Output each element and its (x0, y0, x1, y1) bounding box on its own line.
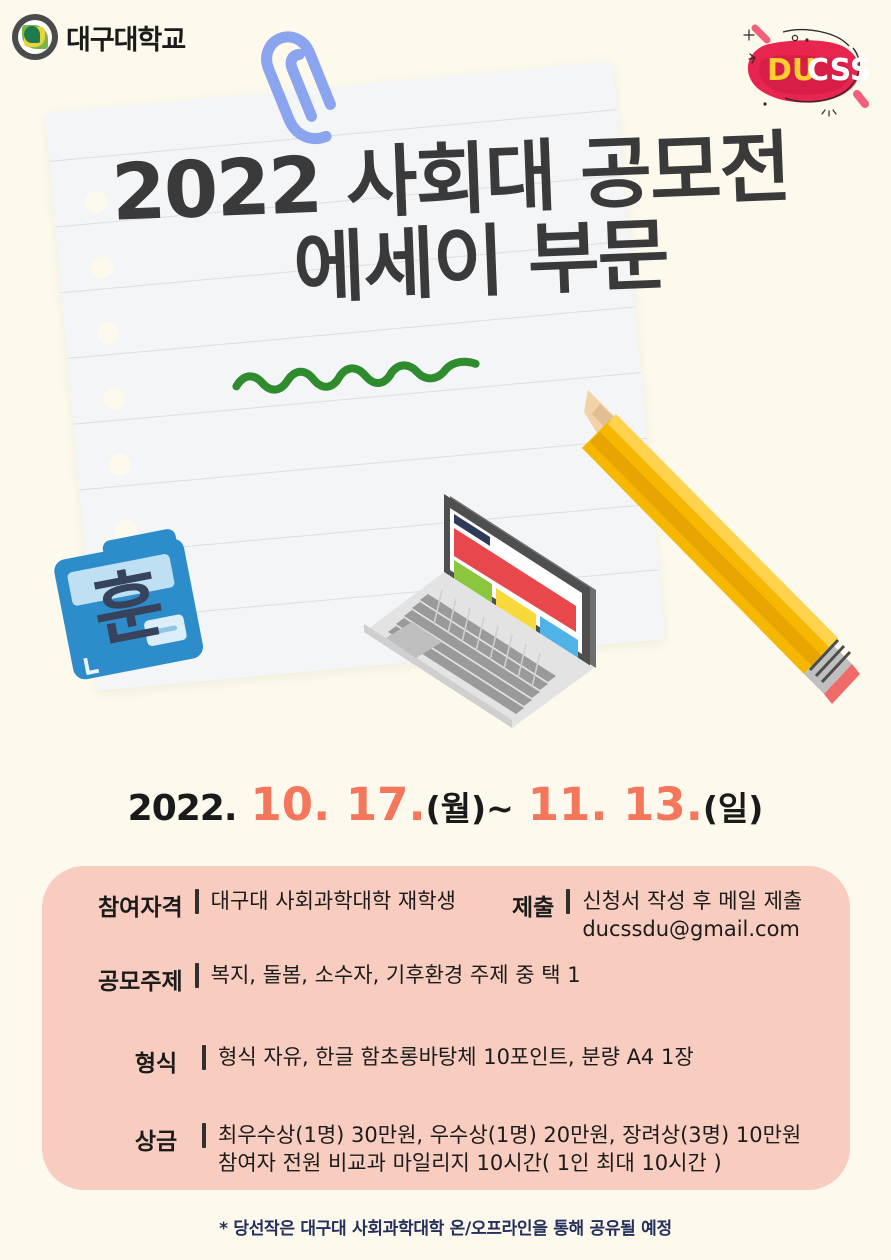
label-qualification: 참여자격 (98, 888, 183, 922)
divider-bar (202, 1045, 206, 1070)
divider-bar (195, 889, 199, 914)
info-row-topic: 공모주제 복지, 돌봄, 소수자, 기후환경 주제 중 택 1 (98, 962, 581, 996)
info-row-qualification: 참여자격 대구대 사회과학대학 재학생 (98, 888, 456, 922)
footnote-text: * 당선작은 대구대 사회과학대학 온/오프라인을 통해 공유될 예정 (0, 1214, 891, 1239)
value-topic: 복지, 돌봄, 소수자, 기후환경 주제 중 택 1 (211, 962, 581, 990)
date-end: 11. 13. (528, 778, 703, 831)
ducss-logo-text-css: CSS (807, 53, 871, 88)
blue-document-card-icon: 훈 (50, 523, 216, 688)
divider-bar (202, 1123, 206, 1148)
submission-line-1: 신청서 작성 후 메일 제출 (582, 889, 802, 913)
prize-line-2: 참여자 전원 비교과 마일리지 10시간( 1인 최대 10시간 ) (218, 1151, 722, 1175)
value-format: 형식 자유, 한글 함초롱바탕체 10포인트, 분량 A4 1장 (218, 1044, 694, 1072)
divider-bar (566, 889, 570, 914)
info-row-prize: 상금 최우수상(1명) 30만원, 우수상(1명) 20만원, 장려상(3명) … (122, 1122, 801, 1178)
value-prize: 최우수상(1명) 30만원, 우수상(1명) 20만원, 장려상(3명) 10만… (218, 1122, 801, 1178)
date-start: 10. 17. (250, 778, 425, 831)
event-date-line: 2022. 10. 17.(월)~ 11. 13.(일) (0, 778, 891, 831)
value-submission: 신청서 작성 후 메일 제출 ducssdu@gmail.com (582, 888, 802, 944)
info-row-submission: 제출 신청서 작성 후 메일 제출 ducssdu@gmail.com (512, 888, 802, 944)
label-topic: 공모주제 (98, 962, 183, 996)
poster-canvas: 대구대학교 DU CSS (0, 0, 891, 1260)
university-logo: 대구대학교 (12, 14, 185, 60)
date-start-day: (월)~ (426, 789, 514, 828)
info-row-format: 형식 형식 자유, 한글 함초롱바탕체 10포인트, 분량 A4 1장 (122, 1044, 694, 1078)
blue-card-character: 훈 (51, 532, 205, 683)
poster-title: 2022 사회대 공모전 에세이 부문 (0, 140, 891, 305)
value-qualification: 대구대 사회과학대학 재학생 (211, 888, 456, 916)
university-name: 대구대학교 (66, 18, 185, 57)
label-prize: 상금 (122, 1122, 190, 1156)
info-panel: 참여자격 대구대 사회과학대학 재학생 제출 신청서 작성 후 메일 제출 du… (42, 866, 850, 1190)
date-end-day: (일) (703, 789, 764, 828)
prize-line-1: 최우수상(1명) 30만원, 우수상(1명) 20만원, 장려상(3명) 10만… (218, 1123, 801, 1147)
ducss-logo: DU CSS (733, 14, 873, 122)
divider-bar (195, 963, 199, 988)
pencil-illustration (560, 382, 860, 712)
submission-email: ducssdu@gmail.com (582, 917, 800, 941)
university-emblem-icon (12, 14, 58, 60)
label-format: 형식 (122, 1044, 190, 1078)
date-year: 2022. (128, 788, 237, 829)
label-submission: 제출 (512, 888, 554, 922)
